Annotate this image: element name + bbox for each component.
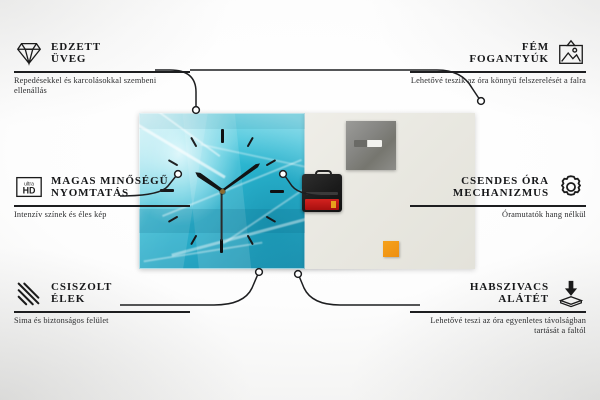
clock-tick-mark bbox=[221, 129, 224, 143]
callout-title: FÉM FOGANTYÚK bbox=[469, 41, 549, 66]
ultra-hd-icon: ultra HD bbox=[14, 172, 44, 202]
diagonal-lines-icon bbox=[14, 278, 44, 308]
callout-subtitle: Lehetővé teszi az óra egyenletes távolsá… bbox=[410, 316, 586, 336]
divider bbox=[410, 311, 586, 313]
clock-second-hand bbox=[221, 191, 223, 241]
callout-tempered-glass: EDZETT ÜVEG Repedésekkel és karcolásokka… bbox=[14, 38, 190, 96]
callout-foam-pad: HABSZIVACS ALÁTÉT Lehetővé teszi az óra … bbox=[410, 278, 586, 336]
callout-title: HABSZIVACS ALÁTÉT bbox=[470, 281, 549, 306]
foam-pad-arrow-icon bbox=[556, 278, 586, 308]
callout-header: ultra HD MAGAS MINŐSÉGŰ NYOMTATÁS bbox=[14, 172, 190, 202]
callout-polished-edges: CSISZOLT ÉLEK Sima és biztonságos felüle… bbox=[14, 278, 190, 326]
clock-tick-mark bbox=[266, 159, 277, 166]
callout-title: MAGAS MINŐSÉGŰ NYOMTATÁS bbox=[51, 175, 168, 200]
clock-tick-mark bbox=[168, 159, 179, 166]
callout-header: EDZETT ÜVEG bbox=[14, 38, 190, 68]
callout-title: CSISZOLT ÉLEK bbox=[51, 281, 112, 306]
clock-tick-mark bbox=[270, 190, 284, 193]
callout-header: HABSZIVACS ALÁTÉT bbox=[410, 278, 586, 308]
clock-tick-mark bbox=[190, 137, 197, 148]
callout-subtitle: Sima és biztonságos felület bbox=[14, 316, 190, 326]
callout-subtitle: Lehetővé teszik az óra könnyű felszerelé… bbox=[410, 76, 586, 86]
callout-subtitle: Óramutatók hang nélkül bbox=[410, 210, 586, 220]
picture-frame-hanger-icon bbox=[556, 38, 586, 68]
callout-header: FÉM FOGANTYÚK bbox=[410, 38, 586, 68]
clock-tick bbox=[222, 190, 284, 192]
callout-title: EDZETT ÜVEG bbox=[51, 41, 101, 66]
clock-center-cap bbox=[220, 189, 225, 194]
divider bbox=[14, 205, 190, 207]
divider bbox=[410, 71, 586, 73]
callout-header: CSENDES ÓRA MECHANIZMUS bbox=[410, 172, 586, 202]
divider bbox=[410, 205, 586, 207]
hanger-slot bbox=[354, 140, 382, 147]
clock-tick-mark bbox=[266, 216, 277, 223]
gear-icon bbox=[556, 172, 586, 202]
clock-tick-mark bbox=[221, 239, 224, 253]
callout-header: CSISZOLT ÉLEK bbox=[14, 278, 190, 308]
infographic-canvas: EDZETT ÜVEG Repedésekkel és karcolásokka… bbox=[0, 0, 600, 400]
divider bbox=[14, 71, 190, 73]
divider bbox=[14, 311, 190, 313]
clock-minute-hand bbox=[221, 162, 261, 193]
clock-tick bbox=[221, 137, 254, 192]
clock-tick-mark bbox=[190, 235, 197, 246]
callout-metal-handles: FÉM FOGANTYÚK Lehetővé teszik az óra kön… bbox=[410, 38, 586, 86]
callout-silent-mechanism: CSENDES ÓRA MECHANIZMUS Óramutatók hang … bbox=[410, 172, 586, 220]
clock-tick-mark bbox=[247, 235, 254, 246]
battery-compartment bbox=[305, 199, 339, 210]
metal-hanger-part bbox=[346, 121, 396, 170]
clock-mechanism-part bbox=[302, 170, 342, 212]
callout-subtitle: Intenzív színek és éles kép bbox=[14, 210, 190, 220]
diamond-icon bbox=[14, 38, 44, 68]
mechanism-body bbox=[302, 174, 342, 212]
clock-tick-mark bbox=[247, 137, 254, 148]
mechanism-stripe bbox=[306, 192, 338, 195]
callout-subtitle: Repedésekkel és karcolásokkal szembeni e… bbox=[14, 76, 190, 96]
foam-pad-part bbox=[383, 241, 399, 257]
clock-tick bbox=[221, 129, 223, 191]
callout-title: CSENDES ÓRA MECHANIZMUS bbox=[453, 175, 549, 200]
callout-high-quality-print: ultra HD MAGAS MINŐSÉGŰ NYOMTATÁS Intenz… bbox=[14, 172, 190, 220]
svg-text:HD: HD bbox=[23, 186, 36, 196]
